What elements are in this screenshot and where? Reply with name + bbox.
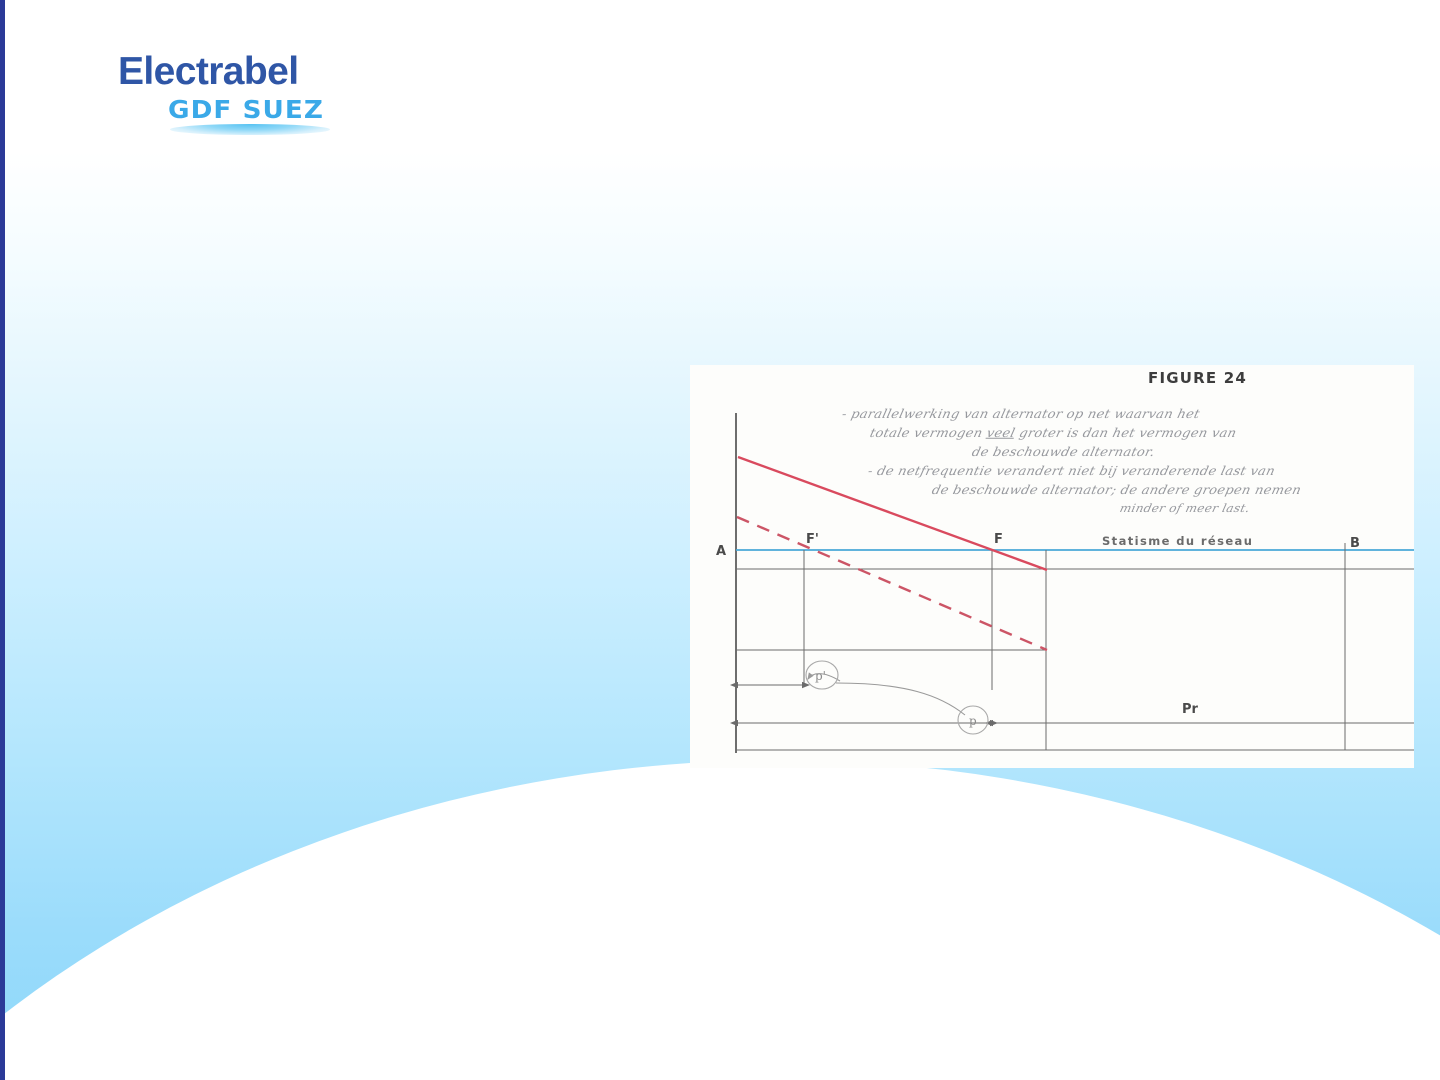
label-pr: Pr bbox=[1182, 702, 1199, 717]
figure-diagram: p' p Pr A B F' F Statisme du réseau bbox=[690, 365, 1414, 768]
figure-image-card: FIGURE 24 - parallelwerking van alternat… bbox=[690, 365, 1414, 768]
label-p-prime: p' bbox=[815, 669, 826, 683]
label-statisme-du-reseau: Statisme du réseau bbox=[1102, 534, 1253, 548]
label-b: B bbox=[1350, 536, 1360, 551]
brand-logo: Electrabel GDF SUEZ bbox=[118, 52, 348, 147]
label-a: A bbox=[716, 544, 726, 559]
droop-line-solid bbox=[738, 457, 1047, 570]
logo-brand-text: Electrabel bbox=[118, 52, 348, 91]
label-f-prime: F' bbox=[806, 532, 819, 547]
decorative-bottom-arc bbox=[0, 760, 1440, 1080]
label-p: p bbox=[969, 714, 977, 728]
logo-sub-wrap: GDF SUEZ bbox=[118, 97, 348, 141]
slide-canvas: Electrabel GDF SUEZ FIGURE 24 - parallel… bbox=[0, 0, 1440, 1080]
logo-swoosh-decoration bbox=[170, 124, 330, 135]
label-f: F bbox=[994, 532, 1003, 547]
left-accent-rule bbox=[0, 0, 5, 1080]
logo-subbrand-text: GDF SUEZ bbox=[168, 97, 324, 122]
connector-curve-p-prime-to-p bbox=[836, 683, 965, 715]
